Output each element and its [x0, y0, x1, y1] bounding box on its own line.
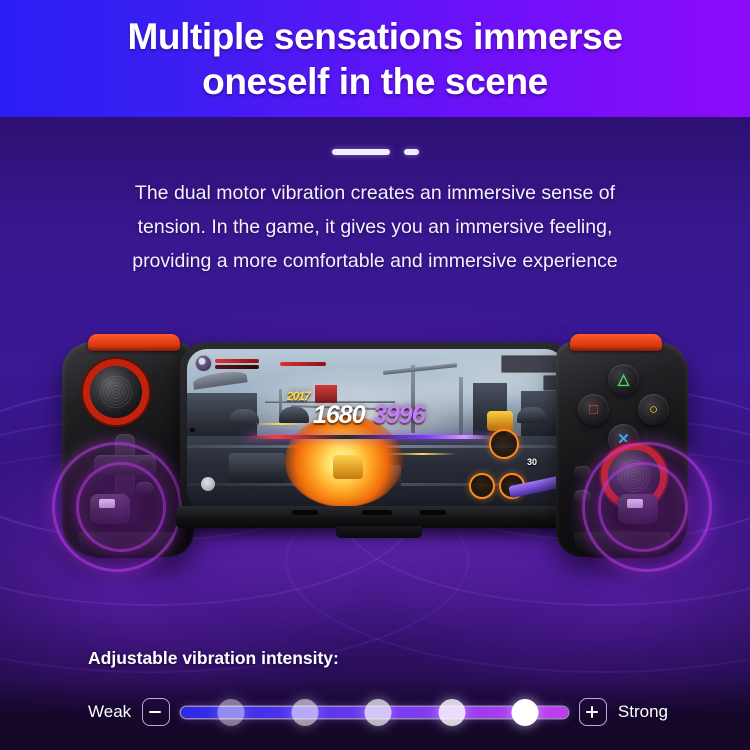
game-hud-portrait-icon	[195, 355, 212, 372]
game-weapon-beam	[245, 435, 495, 439]
plus-icon[interactable]	[579, 698, 607, 726]
game-hud-minimap	[501, 355, 559, 373]
intro-line-3: providing a more comfortable and immersi…	[60, 244, 690, 278]
game-crate-1	[229, 453, 285, 483]
game-hud-bars	[215, 359, 259, 369]
game-hud-health-bar	[215, 359, 259, 363]
game-spark-1	[253, 423, 307, 425]
slider-dot-3[interactable]	[365, 699, 392, 726]
bridge-port-usb	[292, 510, 318, 515]
game-turret-3	[517, 407, 547, 423]
slider-row: Weak Strong	[88, 695, 668, 729]
circle-button: ○	[638, 394, 669, 425]
game-damage-small: 2017	[287, 389, 310, 403]
intro-line-1: The dual motor vibration creates an imme…	[60, 176, 690, 210]
minus-icon[interactable]	[142, 698, 170, 726]
game-mech-enemy	[487, 411, 513, 431]
intro-line-2: tension. In the game, it gives you an im…	[60, 210, 690, 244]
slider-dot-1[interactable]	[218, 699, 245, 726]
game-turret-2	[279, 407, 309, 423]
plus-bar-v	[591, 706, 593, 718]
game-hud-enemy-health-bar	[280, 362, 326, 366]
game-crane-mast-2	[459, 377, 463, 435]
slider-dot-4[interactable]	[438, 699, 465, 726]
slider-handle-active[interactable]	[512, 699, 539, 726]
divider-long-bar	[332, 149, 390, 155]
divider-short-bar	[404, 149, 419, 155]
slider-track-wrap[interactable]	[181, 695, 568, 729]
game-damage-primary: 1680	[313, 401, 365, 430]
left-shoulder-button	[88, 334, 180, 351]
triangle-button: △	[608, 364, 639, 395]
phone-camera-dot	[190, 428, 195, 433]
right-vibration-ring-outer	[582, 442, 712, 572]
bridge-center-notch	[336, 526, 422, 538]
left-thumbstick-texture	[98, 374, 134, 410]
game-hud-skill-1	[469, 473, 495, 499]
product-feature-page: Multiple sensations immerse oneself in t…	[0, 0, 750, 750]
telescoping-bridge	[176, 506, 576, 528]
bridge-port-aux	[362, 510, 392, 515]
game-mech-player	[333, 455, 363, 479]
left-thumbstick	[90, 366, 142, 418]
slider-title: Adjustable vibration intensity:	[88, 648, 668, 669]
game-hud-player-info	[195, 355, 326, 372]
page-header: Multiple sensations immerse oneself in t…	[0, 0, 750, 117]
header-title-line-2: oneself in the scene	[202, 59, 548, 104]
game-spark-2	[387, 453, 457, 455]
section-divider	[0, 143, 750, 161]
mounted-phone: 2017 1680 3996 30	[180, 342, 572, 518]
right-shoulder-button	[570, 334, 662, 351]
slider-dot-2[interactable]	[291, 699, 318, 726]
minus-bar	[149, 711, 161, 713]
slider-max-label: Strong	[618, 702, 668, 722]
intro-paragraph: The dual motor vibration creates an imme…	[60, 176, 690, 278]
phone-screen: 2017 1680 3996 30	[187, 349, 565, 511]
slider-min-label: Weak	[88, 702, 131, 722]
game-hud-skill-main	[489, 429, 519, 459]
game-hud-energy-bar	[215, 365, 259, 369]
controller-product-photo: 2017 1680 3996 30	[0, 320, 750, 600]
game-hud-virtual-joystick	[201, 477, 215, 491]
bridge-port-vent	[420, 510, 446, 515]
game-damage-secondary: 3996	[373, 401, 425, 430]
vibration-intensity-control: Adjustable vibration intensity: Weak Str…	[88, 648, 668, 729]
game-hud-ammo-count: 30	[527, 457, 537, 467]
square-button: □	[578, 394, 609, 425]
left-vibration-ring-outer	[52, 442, 182, 572]
header-title-line-1: Multiple sensations immerse	[127, 14, 622, 59]
